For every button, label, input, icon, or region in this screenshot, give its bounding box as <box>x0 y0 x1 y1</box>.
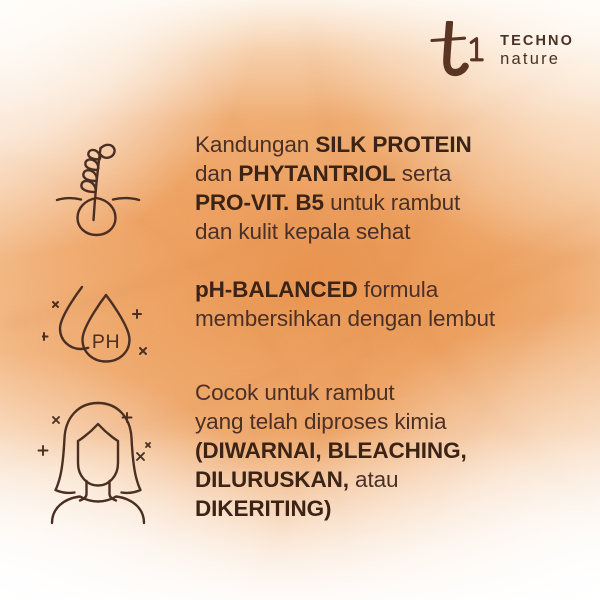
promo-poster: TECHNO nature <box>0 0 600 600</box>
text-run: dan <box>195 161 238 186</box>
text-run-bold: PHYTANTRIOL <box>238 161 395 186</box>
ph-droplet-label: PH <box>91 331 119 353</box>
hair-follicle-icon <box>55 134 141 238</box>
text-run: membersihkan dengan lembut <box>195 306 495 331</box>
feature-list: Kandungan SILK PROTEIN dan PHYTANTRIOL s… <box>0 118 600 523</box>
text-run-bold: PRO-VIT. B5 <box>195 190 324 215</box>
text-run-bold: DIKERITING) <box>195 496 331 521</box>
brand-name-techno: TECHNO <box>500 34 574 49</box>
text-run: atau <box>349 467 399 492</box>
feature-text-cell: pH-BALANCED formula membersihkan dengan … <box>195 253 600 333</box>
feature-text-cell: Cocok untuk rambut yang telah diproses k… <box>195 373 600 523</box>
text-run-bold: SILK PROTEIN <box>315 132 471 157</box>
feature-row: Kandungan SILK PROTEIN dan PHYTANTRIOL s… <box>0 118 600 253</box>
t1-logomark-icon <box>419 21 493 77</box>
text-run: Kandungan <box>195 132 315 157</box>
feature-row: Cocok untuk rambut yang telah diproses k… <box>0 373 600 523</box>
text-run: formula <box>358 277 438 302</box>
text-run: untuk rambut <box>324 190 460 215</box>
ph-droplet-icon: PH <box>42 275 154 367</box>
text-run: dan kulit kepala sehat <box>195 219 410 244</box>
feature-text: Cocok untuk rambut yang telah diproses k… <box>195 373 582 523</box>
feature-row: PH pH-BALANCED formula membersihkan deng… <box>0 253 600 373</box>
brand-name-nature: nature <box>500 51 574 68</box>
text-run-bold: pH-BALANCED <box>195 277 358 302</box>
feature-icon-cell: PH <box>0 253 195 367</box>
text-run: yang telah diproses kimia <box>195 409 446 434</box>
brand-logo: TECHNO nature <box>419 21 574 77</box>
text-run-bold: DILURUSKAN, <box>195 467 349 492</box>
text-run-bold: (DIWARNAI, BLEACHING, <box>195 438 467 463</box>
woman-hair-icon <box>34 395 162 527</box>
text-run: serta <box>396 161 452 186</box>
text-run: Cocok untuk rambut <box>195 380 395 405</box>
feature-icon-cell <box>0 118 195 238</box>
feature-text: Kandungan SILK PROTEIN dan PHYTANTRIOL s… <box>195 118 582 246</box>
feature-text: pH-BALANCED formula membersihkan dengan … <box>195 253 582 333</box>
feature-text-cell: Kandungan SILK PROTEIN dan PHYTANTRIOL s… <box>195 118 600 246</box>
feature-icon-cell <box>0 373 195 527</box>
brand-wordmark: TECHNO nature <box>500 31 574 68</box>
